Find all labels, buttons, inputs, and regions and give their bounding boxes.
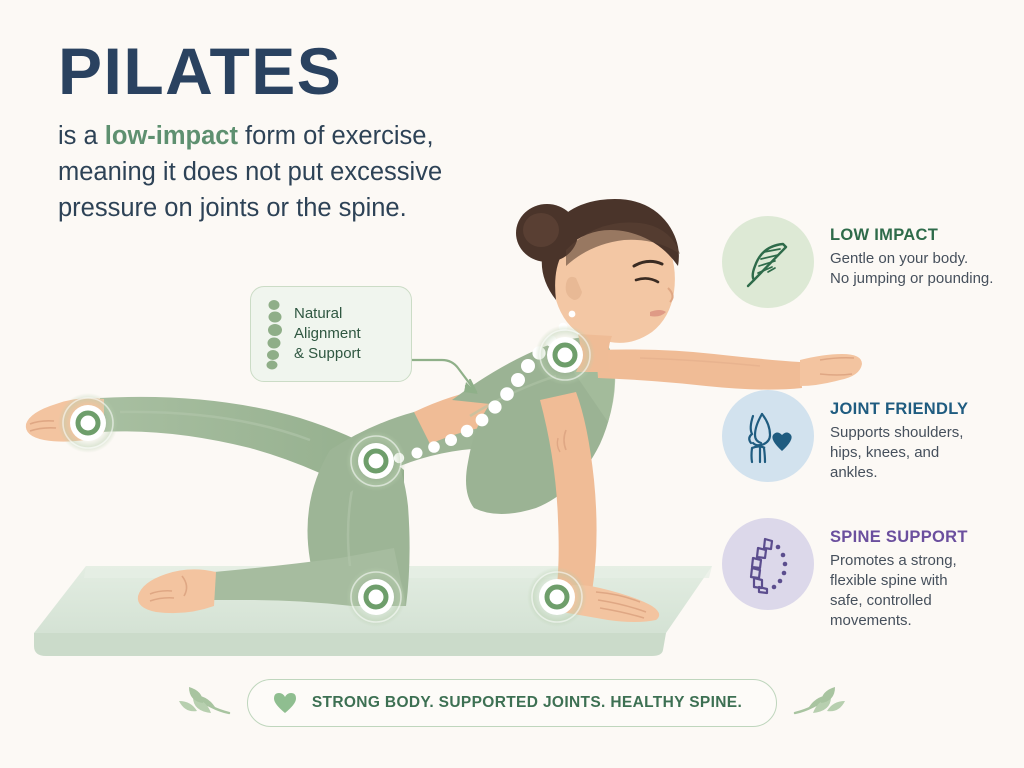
callout-line1: Natural [294, 304, 361, 324]
feature-title: JOINT FRIENDLY [830, 400, 968, 419]
feature-joint-friendly: JOINT FRIENDLY Supports shoulders, hips,… [722, 390, 1022, 483]
feature-desc: Gentle on your body. No jumping or pound… [830, 249, 993, 289]
feature-icon-circle [722, 518, 814, 610]
leaf-sprig-icon [791, 683, 847, 723]
feature-low-impact: LOW IMPACT Gentle on your body. No jumpi… [722, 216, 1022, 308]
knee-joint-heart-icon [739, 408, 797, 464]
feature-desc-line1: Gentle on your body. [830, 249, 993, 269]
feature-icon-circle [722, 216, 814, 308]
feature-desc-line2: flexible spine with [830, 571, 968, 591]
page-title: PILATES [58, 38, 528, 104]
feature-desc-line1: Promotes a strong, [830, 551, 968, 571]
hip-joint-marker [346, 431, 406, 491]
feature-body: SPINE SUPPORT Promotes a strong, flexibl… [830, 518, 968, 631]
callout-line3: & Support [294, 344, 361, 364]
subhead-highlight: low-impact [105, 122, 238, 150]
feature-desc: Promotes a strong, flexible spine with s… [830, 551, 968, 631]
subhead-line2: meaning it does not put excessive [58, 158, 442, 186]
feather-icon [742, 236, 794, 288]
feature-desc-line4: movements. [830, 611, 968, 631]
extended-arm [596, 350, 862, 390]
feature-body: JOINT FRIENDLY Supports shoulders, hips,… [830, 390, 968, 483]
feature-title: SPINE SUPPORT [830, 528, 968, 547]
feature-spine-support: SPINE SUPPORT Promotes a strong, flexibl… [722, 518, 1022, 631]
feature-title: LOW IMPACT [830, 226, 993, 245]
feature-desc-line2: No jumping or pounding. [830, 269, 993, 289]
feature-desc-line2: hips, knees, and [830, 443, 968, 463]
feature-desc-line3: safe, controlled [830, 591, 968, 611]
heart-icon [272, 691, 298, 715]
spine-vertebrae-icon [263, 298, 285, 370]
feature-desc-line3: ankles. [830, 463, 968, 483]
subhead-line1-pre: is a [58, 122, 105, 150]
feature-body: LOW IMPACT Gentle on your body. No jumpi… [830, 216, 993, 289]
bottom-banner-row: STRONG BODY. SUPPORTED JOINTS. HEALTHY S… [0, 672, 1024, 734]
subheadline: is a low-impact form of exercise, meanin… [58, 118, 528, 227]
shoulder-joint-marker [535, 325, 595, 385]
feature-desc: Supports shoulders, hips, knees, and ank… [830, 423, 968, 483]
bottom-banner: STRONG BODY. SUPPORTED JOINTS. HEALTHY S… [247, 679, 777, 727]
callout-line2: Alignment [294, 324, 361, 344]
spine-dotted-icon [740, 535, 796, 593]
callout-natural-alignment: Natural Alignment & Support [250, 286, 412, 382]
subhead-line3: pressure on joints or the spine. [58, 194, 407, 222]
ankle-joint-marker [58, 393, 118, 453]
callout-connector-arrow [412, 360, 478, 394]
headline-block: PILATES is a low-impact form of exercise… [58, 38, 528, 227]
subhead-line1-post: form of exercise, [238, 122, 434, 150]
infographic-canvas: PILATES is a low-impact form of exercise… [0, 0, 1024, 768]
feature-desc-line1: Supports shoulders, [830, 423, 968, 443]
banner-text: STRONG BODY. SUPPORTED JOINTS. HEALTHY S… [312, 694, 742, 712]
hand-wrist-joint-marker [527, 567, 587, 627]
feature-icon-circle [722, 390, 814, 482]
knee-joint-marker [346, 567, 406, 627]
callout-text: Natural Alignment & Support [294, 304, 361, 363]
leaf-sprig-icon [177, 683, 233, 723]
